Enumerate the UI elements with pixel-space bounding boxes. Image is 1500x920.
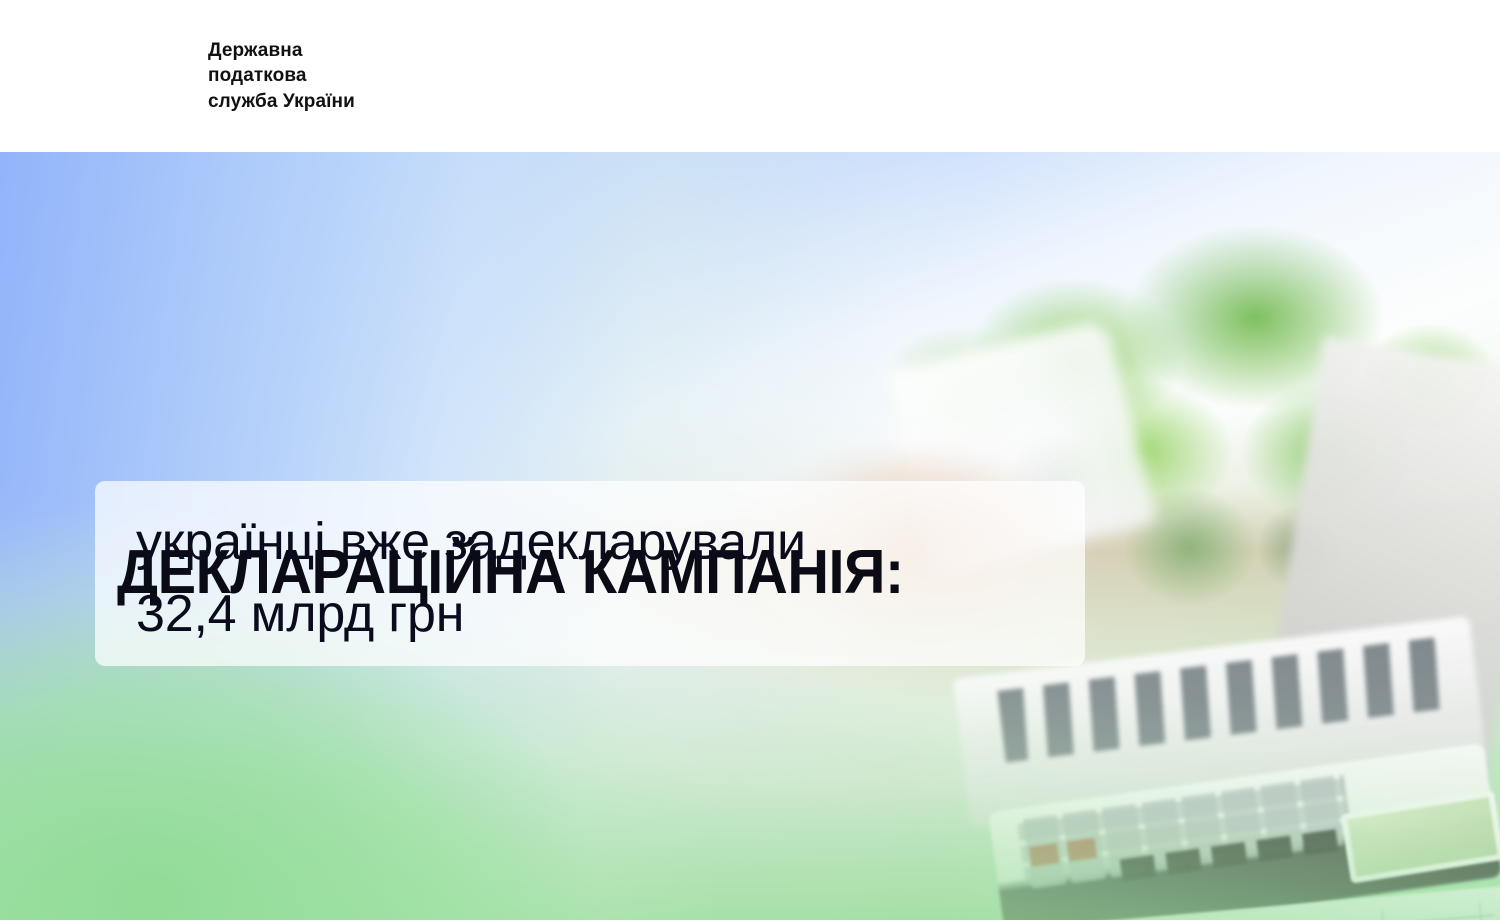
ukraine-trident-icon xyxy=(159,59,187,93)
logo-text: Державна податкова служба України xyxy=(208,38,355,113)
blue-circle-icon xyxy=(68,43,134,109)
banner-subtitle-line-1: українці вже задекларували xyxy=(136,516,806,568)
banner-content: ДЕКЛАРАЦІЙНА КАМПАНІЯ: українці вже заде… xyxy=(0,152,1500,920)
green-circle-icon xyxy=(140,43,206,109)
declaration-campaign-banner: ДЕКЛАРАЦІЙНА КАМПАНІЯ: українці вже заде… xyxy=(0,0,1500,920)
site-header: Державна податкова служба України xyxy=(0,0,1500,152)
banner-subtitle-line-2: 32,4 млрд грн xyxy=(136,588,464,640)
tax-service-logo[interactable]: Державна податкова служба України xyxy=(68,38,355,113)
logo-marks xyxy=(68,43,198,109)
